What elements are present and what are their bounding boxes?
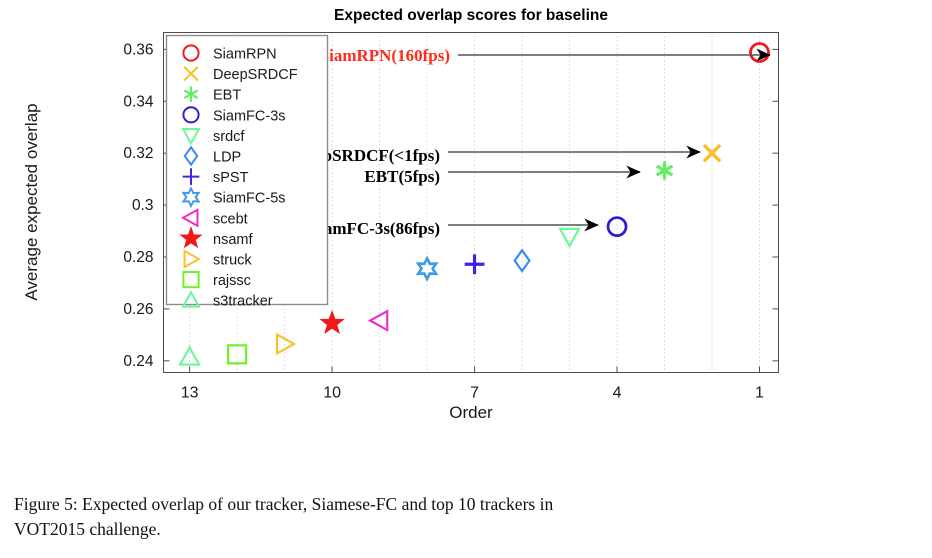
annotations: SiamRPN(160fps)DeepSRDCF(<1fps)EBT(5fps)… [295,46,770,238]
x-tick-label: 4 [613,385,622,402]
legend-label-deepsrdcf: DeepSRDCF [213,67,298,83]
caption-line-2: VOT2015 challenge. [14,517,920,542]
caption-line-1: Figure 5: Expected overlap of our tracke… [14,494,553,514]
expected-overlap-scatter-chart: 1310741 0.240.260.280.30.320.340.36 Expe… [0,0,932,470]
y-tick-label: 0.34 [123,93,154,110]
figure-5: 1310741 0.240.260.280.30.320.340.36 Expe… [0,0,932,558]
y-tick-label: 0.36 [123,41,153,58]
legend-label-struck: struck [213,253,252,269]
x-tick-label: 7 [470,385,479,402]
legend-label-ldp: LDP [213,150,241,166]
y-tick-label: 0.32 [123,145,153,162]
legend-label-ebt: EBT [213,88,241,104]
data-point-struck [277,335,294,354]
data-point-ebt [657,162,673,180]
annotation-label: SiamRPN(160fps) [320,46,450,65]
legend-label-rajssc: rajssc [213,273,251,289]
legend-label-siamfc-5s: SiamFC-5s [213,191,286,207]
annotation-label: SiamFC-3s(86fps) [310,219,440,238]
y-tick-label: 0.3 [132,197,154,214]
legend-label-srdcf: srdcf [213,129,245,145]
x-tick-label: 13 [181,385,199,402]
legend-label-scebt: scebt [213,211,248,227]
x-tick-label: 1 [755,385,764,402]
data-point-siamrpn [751,43,769,61]
data-point-scebt [370,311,387,330]
legend-label-spst: sPST [213,170,249,186]
figure-caption: Figure 5: Expected overlap of our tracke… [14,492,920,542]
y-tick-label: 0.24 [123,353,154,370]
x-axis-label: Order [449,403,493,422]
chart-legend: SiamRPNDeepSRDCFEBTSiamFC-3ssrdcfLDPsPST… [167,36,328,310]
y-tick-label: 0.28 [123,249,153,266]
chart-title: Expected overlap scores for baseline [334,7,608,24]
x-axis-ticks: 1310741 [181,367,764,402]
legend-label-siamfc-3s: SiamFC-3s [213,108,286,124]
legend-label-nsamf: nsamf [213,232,253,248]
legend-label-siamrpn: SiamRPN [213,47,277,63]
x-tick-label: 10 [323,385,341,402]
y-tick-label: 0.26 [123,301,153,318]
annotation-label: EBT(5fps) [364,167,440,186]
data-point-deepsrdcf [704,145,720,161]
legend-label-s3tracker: s3tracker [213,294,273,310]
data-point-spst [465,254,485,274]
y-axis-label: Average expected overlap [22,103,41,300]
data-point-s3tracker [180,347,199,364]
